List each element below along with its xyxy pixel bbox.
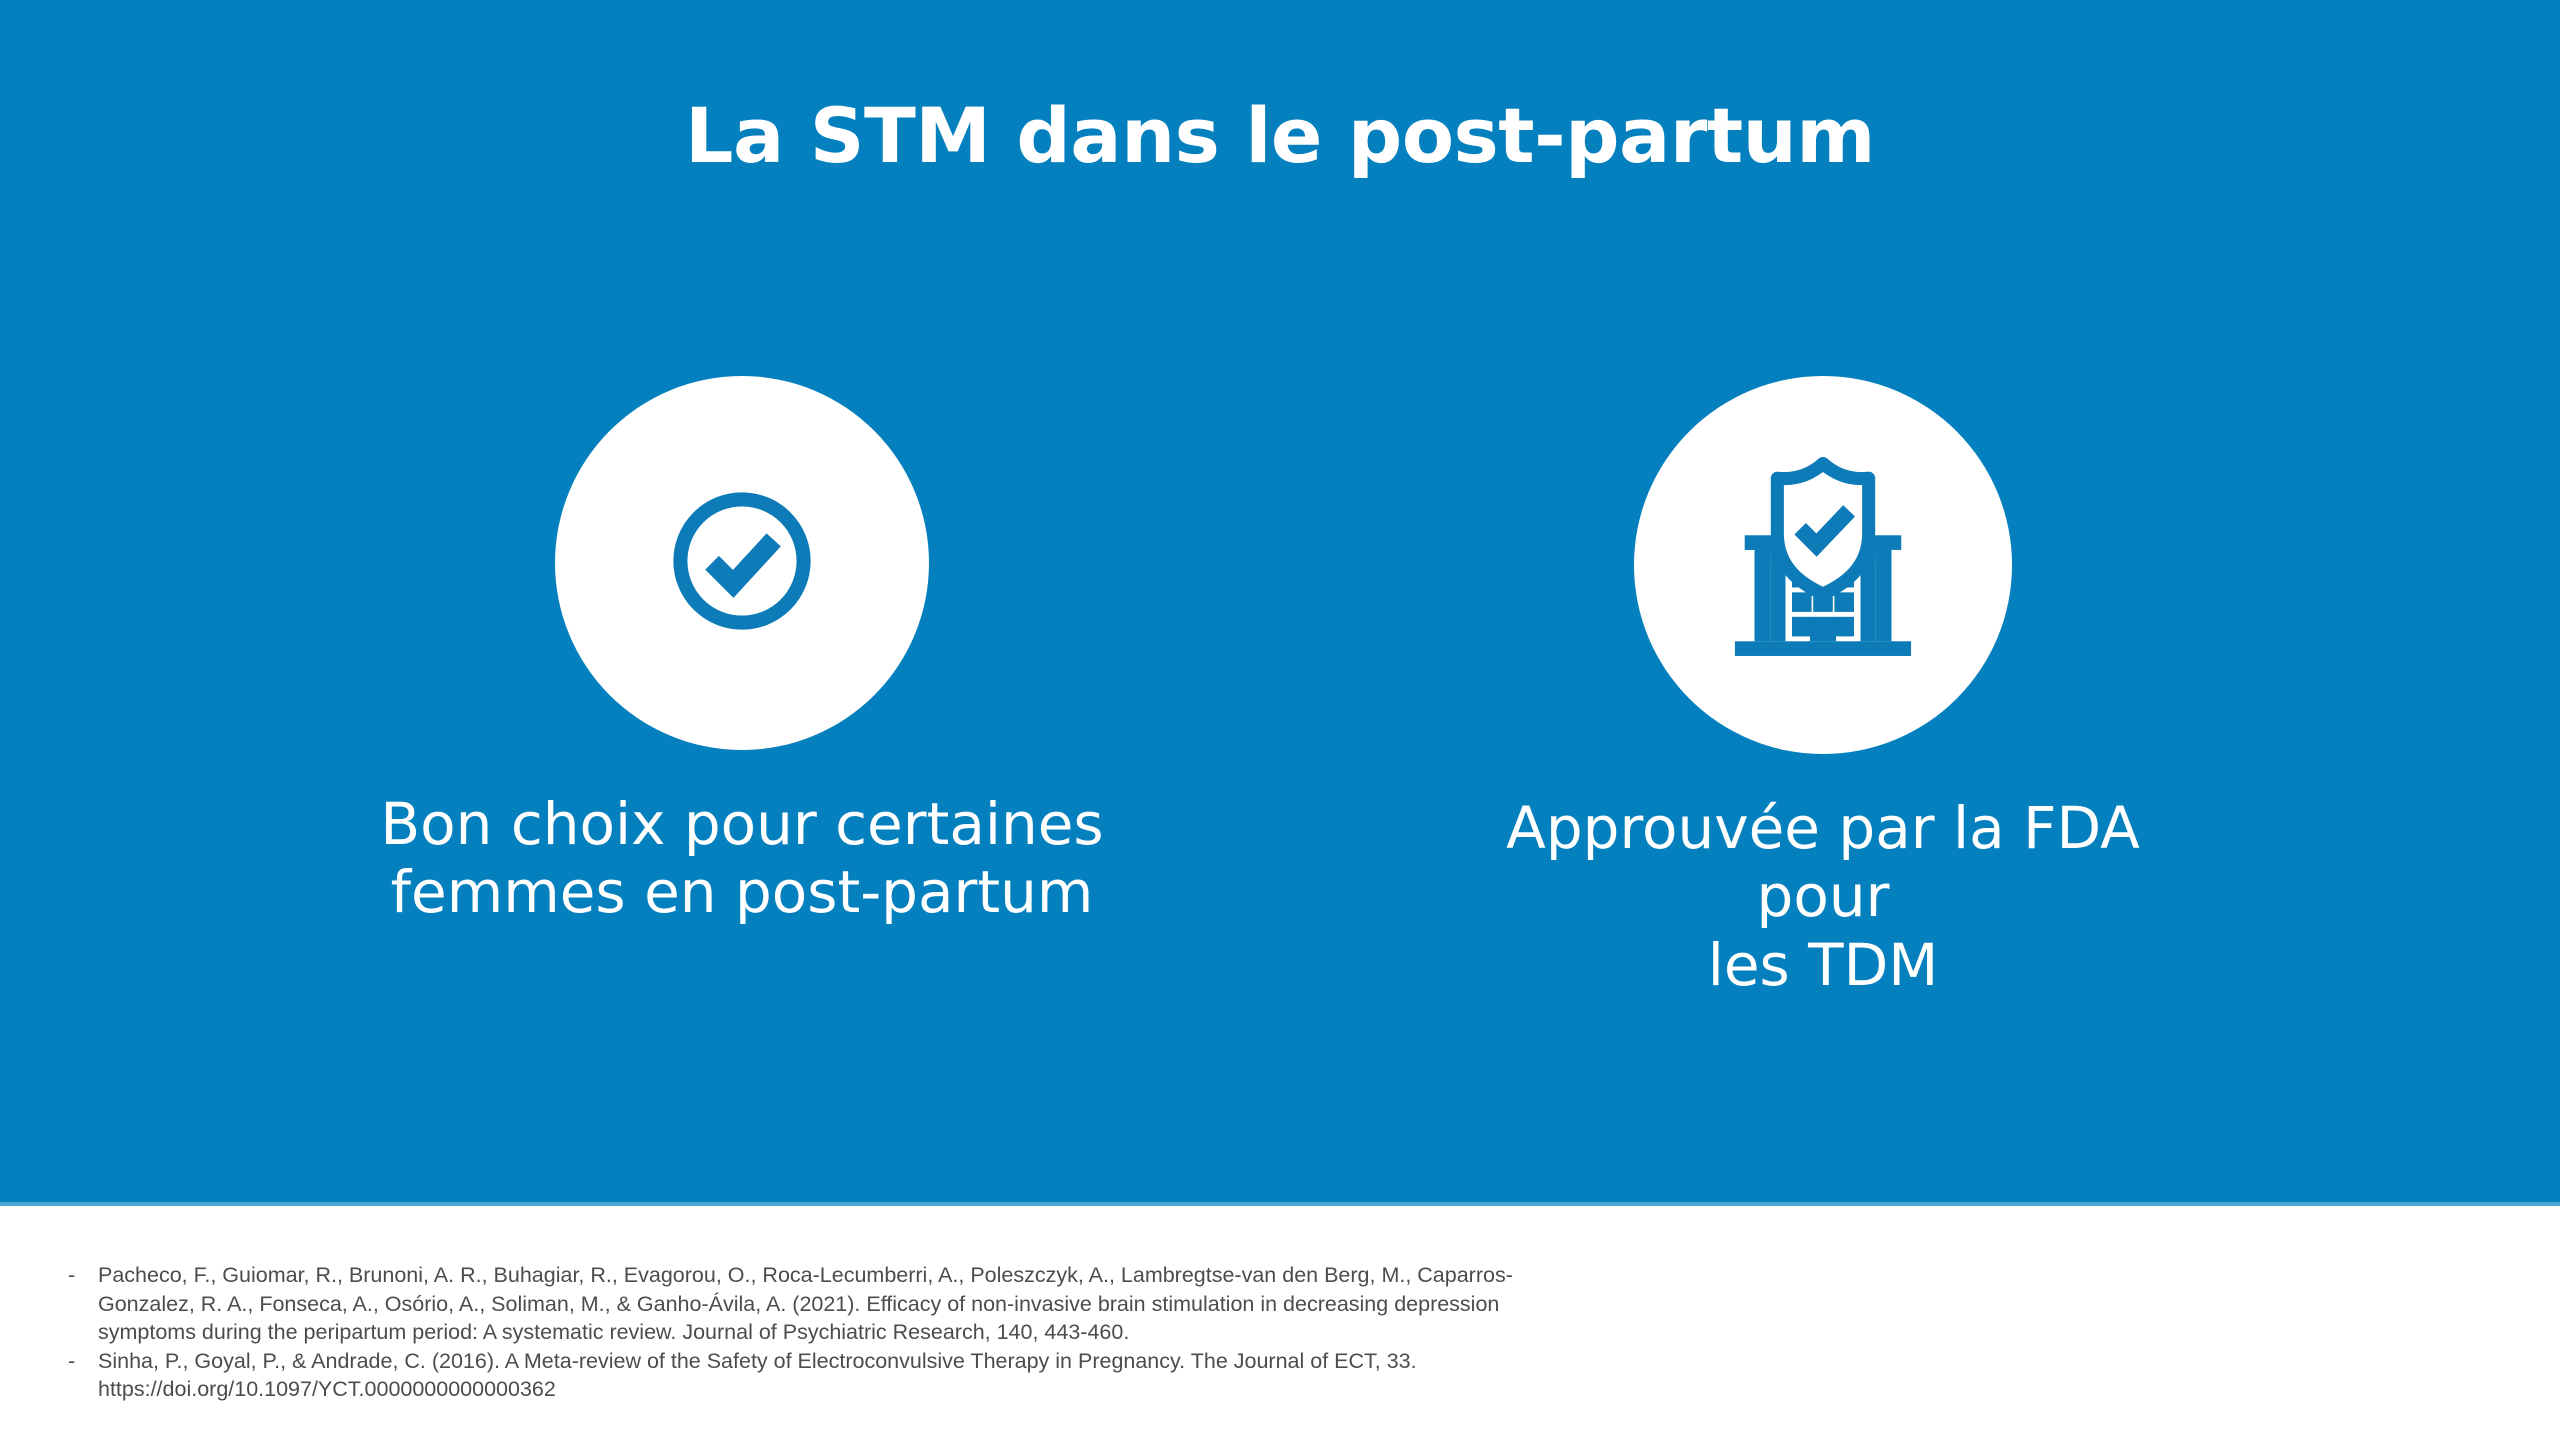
feature-icon-circle-left <box>555 376 929 750</box>
reference-bullet: - <box>68 1347 98 1376</box>
feature-caption-right: Approuvée par la FDA pour les TDM <box>1438 794 2208 999</box>
slide-canvas: La STM dans le post-partum Bon choix pou… <box>0 0 2560 1440</box>
reference-item: - Sinha, P., Goyal, P., & Andrade, C. (2… <box>68 1347 1598 1404</box>
feature-caption-left-line2: femmes en post-partum <box>357 858 1127 926</box>
reference-text: Sinha, P., Goyal, P., & Andrade, C. (201… <box>98 1347 1598 1404</box>
feature-caption-left: Bon choix pour certaines femmes en post-… <box>357 790 1127 927</box>
reference-text: Pacheco, F., Guiomar, R., Brunoni, A. R.… <box>98 1261 1598 1347</box>
feature-icon-circle-right <box>1634 376 2012 754</box>
feature-caption-right-line1: Approuvée par la FDA pour <box>1438 794 2208 931</box>
page-title: La STM dans le post-partum <box>0 98 2560 174</box>
feature-caption-right-line2: les TDM <box>1438 931 2208 999</box>
feature-caption-left-line1: Bon choix pour certaines <box>357 790 1127 858</box>
references-list: - Pacheco, F., Guiomar, R., Brunoni, A. … <box>68 1261 1598 1404</box>
check-circle-icon <box>654 473 830 654</box>
building-shield-check-icon <box>1725 457 1921 674</box>
reference-item: - Pacheco, F., Guiomar, R., Brunoni, A. … <box>68 1261 1598 1347</box>
feature-block-left: Bon choix pour certaines femmes en post-… <box>357 376 1127 927</box>
reference-bullet: - <box>68 1261 98 1290</box>
slide-footer: - Pacheco, F., Guiomar, R., Brunoni, A. … <box>0 1206 2560 1440</box>
feature-block-right: Approuvée par la FDA pour les TDM <box>1438 376 2208 999</box>
